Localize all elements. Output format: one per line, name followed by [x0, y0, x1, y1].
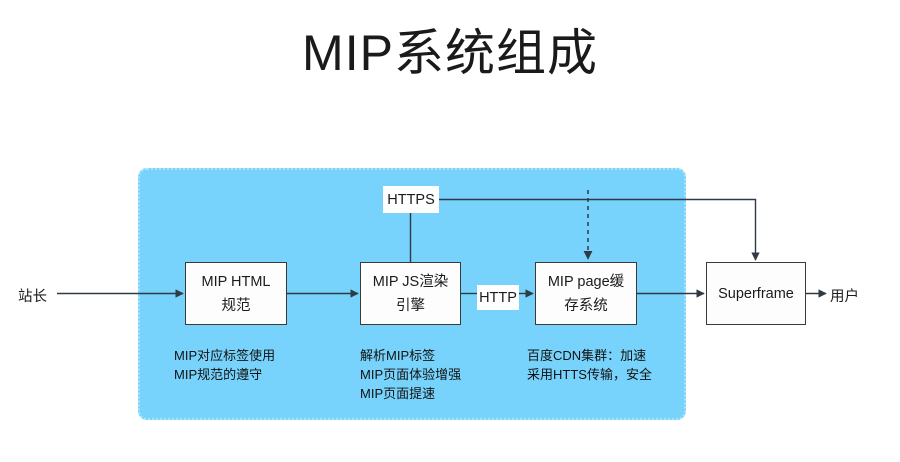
node-mip-page-cache-system-label: MIP page缓存系统	[543, 270, 629, 318]
caption-mip-page-cache-system: 百度CDN集群：加速 采用HTTS传输，安全	[527, 346, 652, 384]
caption-mip-html-spec: MIP对应标签使用 MIP规范的遵守	[174, 346, 275, 384]
caption-mip-js-render-engine: 解析MIP标签 MIP页面体验增强 MIP页面提速	[360, 346, 461, 403]
node-mip-js-render-engine-label: MIP JS渲染引擎	[368, 270, 453, 318]
slide-canvas: MIP系统组成 MIP HTML	[0, 0, 900, 462]
caption-mip-html-spec-line-1: MIP对应标签使用	[174, 346, 275, 365]
edge-label-http: HTTP	[477, 285, 519, 310]
edge-label-https: HTTPS	[383, 186, 439, 213]
caption-mip-js-render-engine-line-3: MIP页面提速	[360, 384, 461, 403]
edge-label-https-text: HTTPS	[387, 192, 435, 208]
node-mip-js-render-engine[interactable]: MIP JS渲染引擎	[360, 262, 461, 325]
node-superframe[interactable]: Superframe	[706, 262, 806, 325]
actor-label-user: 用户	[830, 285, 859, 306]
caption-mip-page-cache-system-line-2: 采用HTTS传输，安全	[527, 365, 652, 384]
node-superframe-label: Superframe	[718, 282, 794, 306]
edge-label-http-text: HTTP	[479, 290, 517, 306]
caption-mip-html-spec-line-2: MIP规范的遵守	[174, 365, 275, 384]
caption-mip-js-render-engine-line-1: 解析MIP标签	[360, 346, 461, 365]
node-mip-html-spec[interactable]: MIP HTML 规范	[185, 262, 287, 325]
caption-mip-page-cache-system-line-1: 百度CDN集群：加速	[527, 346, 652, 365]
actor-label-webmaster: 站长	[18, 285, 47, 306]
node-mip-page-cache-system[interactable]: MIP page缓存系统	[535, 262, 637, 325]
page-title: MIP系统组成	[0, 22, 900, 84]
node-mip-html-spec-label: MIP HTML 规范	[193, 270, 279, 318]
caption-mip-js-render-engine-line-2: MIP页面体验增强	[360, 365, 461, 384]
